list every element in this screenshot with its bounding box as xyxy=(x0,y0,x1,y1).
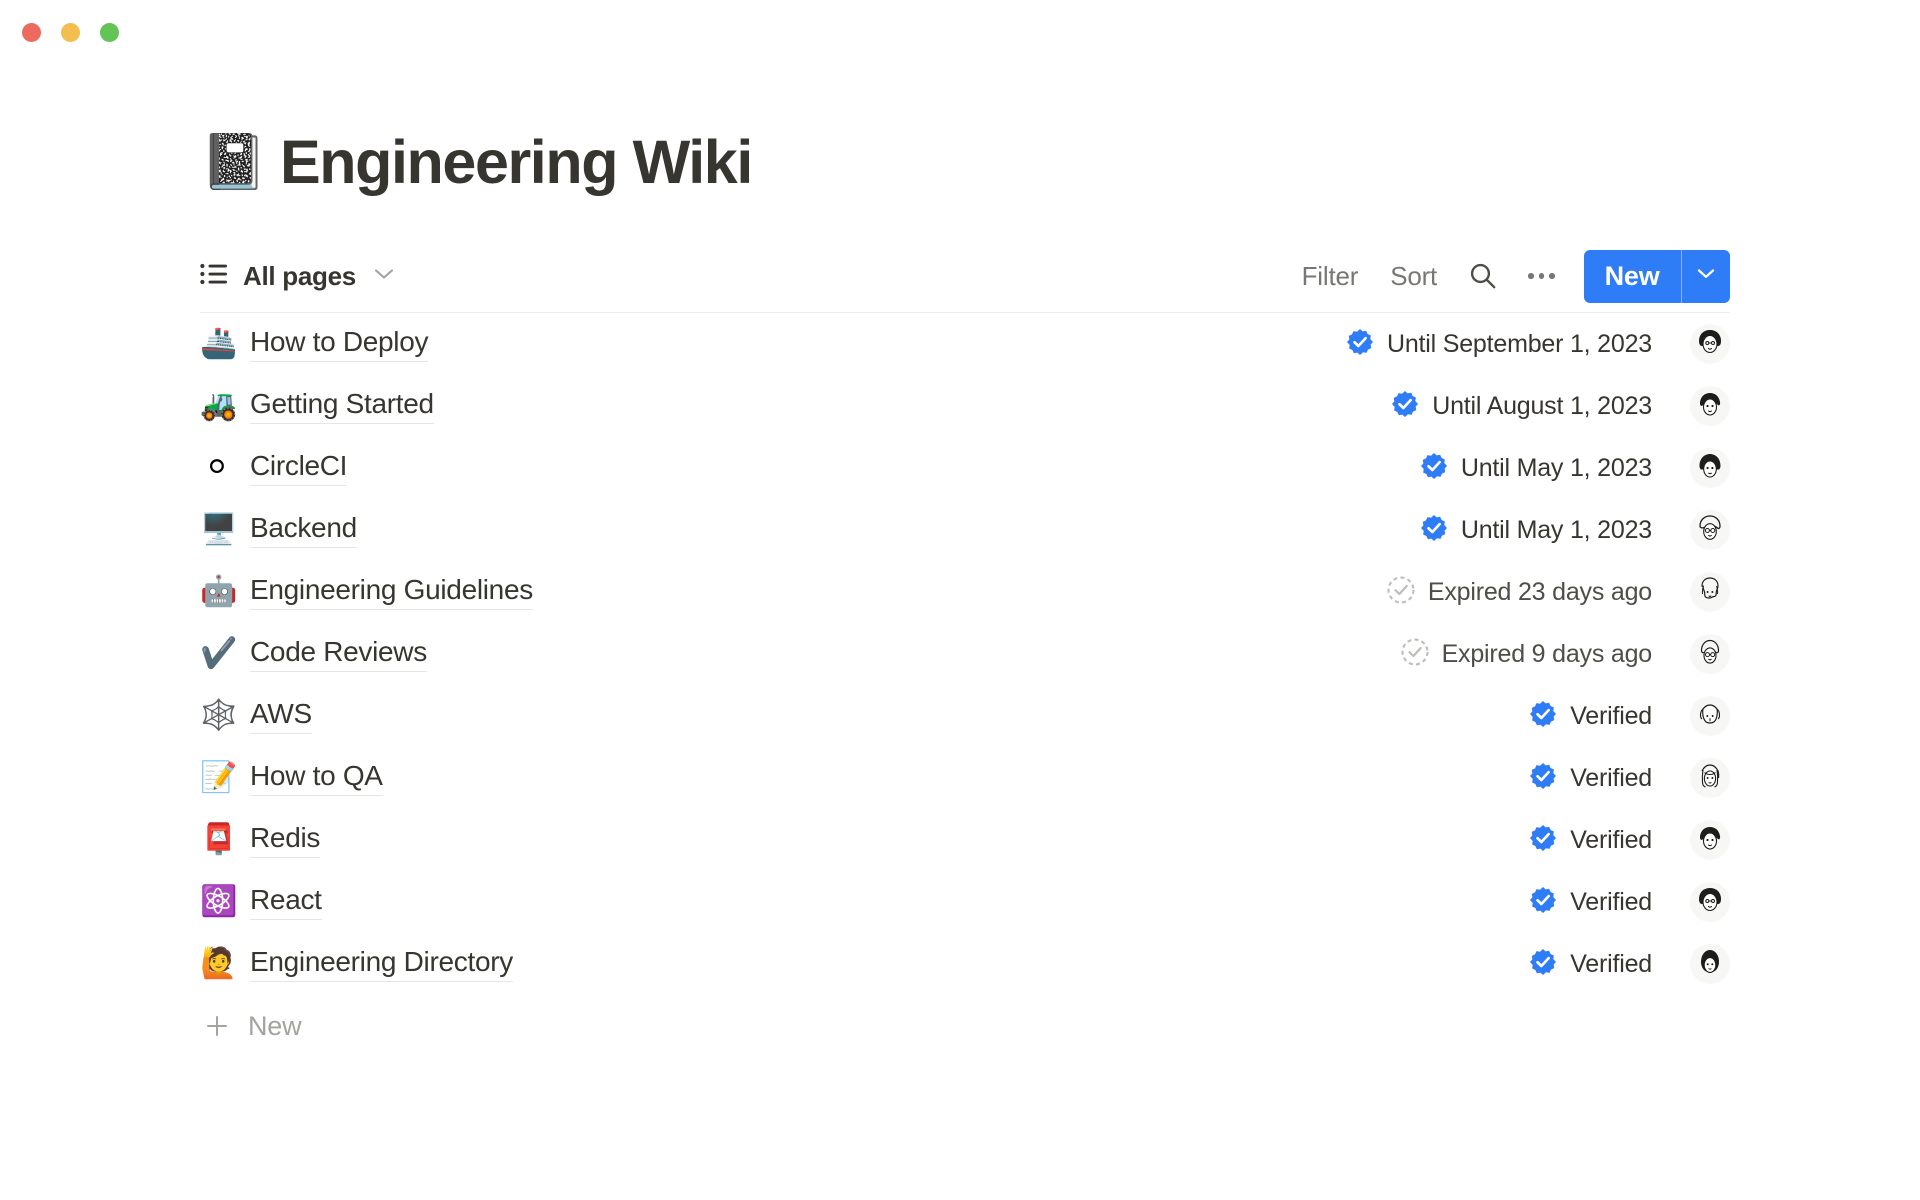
row-right: Until August 1, 2023 xyxy=(1390,386,1730,426)
sort-button[interactable]: Sort xyxy=(1374,261,1453,292)
notebook-emoji: 📓 xyxy=(200,135,258,189)
table-row[interactable]: ⚪ CircleCI Until May 1, 2023 xyxy=(200,437,1730,499)
row-left: ✔️ Code Reviews xyxy=(200,636,1400,672)
page-list: 🚢 How to Deploy Until September 1, 2 xyxy=(200,313,1730,995)
table-row[interactable]: ✔️ Code Reviews Expired 9 days ago xyxy=(200,623,1730,685)
status-badge: Until September 1, 2023 xyxy=(1345,327,1652,362)
ship-emoji: 🚢 xyxy=(200,329,234,359)
chevron-down-icon xyxy=(1696,267,1716,285)
status-text: Until May 1, 2023 xyxy=(1461,516,1652,545)
row-right: Expired 9 days ago xyxy=(1400,634,1730,674)
toolbar-right: Filter Sort xyxy=(1286,250,1730,303)
page-header: 📓 Engineering Wiki xyxy=(200,72,1730,204)
search-icon[interactable] xyxy=(1453,261,1513,291)
status-badge: Verified xyxy=(1528,761,1652,796)
avatar[interactable] xyxy=(1690,510,1730,550)
status-badge: Until May 1, 2023 xyxy=(1419,513,1652,548)
status-badge: Verified xyxy=(1528,699,1652,734)
status-text: Until May 1, 2023 xyxy=(1461,454,1652,483)
row-right: Until May 1, 2023 xyxy=(1419,510,1730,550)
verified-badge-icon xyxy=(1390,389,1420,424)
status-text: Until August 1, 2023 xyxy=(1432,392,1652,421)
status-badge: Verified xyxy=(1528,823,1652,858)
person-raising-hand-emoji: 🙋 xyxy=(200,949,234,979)
table-row[interactable]: 🕸️ AWS Verified xyxy=(200,685,1730,747)
row-right: Verified xyxy=(1528,758,1730,798)
status-text: Verified xyxy=(1570,826,1652,855)
status-badge: Until August 1, 2023 xyxy=(1390,389,1652,424)
status-text: Until September 1, 2023 xyxy=(1387,330,1652,359)
status-text: Expired 23 days ago xyxy=(1428,578,1652,607)
avatar[interactable] xyxy=(1690,572,1730,612)
row-left: 🕸️ AWS xyxy=(200,698,1528,734)
robot-emoji: 🤖 xyxy=(200,577,234,607)
postbox-emoji: 📮 xyxy=(200,825,234,855)
new-button-dropdown[interactable] xyxy=(1682,250,1730,303)
row-right: Verified xyxy=(1528,944,1730,984)
maximize-window-button[interactable] xyxy=(100,23,119,42)
expired-badge-icon xyxy=(1400,637,1430,672)
add-new-row-label: New xyxy=(248,1011,301,1042)
row-right: Verified xyxy=(1528,696,1730,736)
table-row[interactable]: 🤖 Engineering Guidelines Expired 23 xyxy=(200,561,1730,623)
traffic-lights xyxy=(22,23,119,42)
list-icon xyxy=(200,263,228,290)
minimize-window-button[interactable] xyxy=(61,23,80,42)
new-button-group: New xyxy=(1584,250,1730,303)
avatar[interactable] xyxy=(1690,386,1730,426)
status-text: Verified xyxy=(1570,888,1652,917)
verified-badge-icon xyxy=(1528,947,1558,982)
avatar[interactable] xyxy=(1690,324,1730,364)
verified-badge-icon xyxy=(1528,823,1558,858)
row-title[interactable]: Code Reviews xyxy=(250,636,427,672)
row-title[interactable]: How to Deploy xyxy=(250,326,428,362)
avatar[interactable] xyxy=(1690,448,1730,488)
page-title: Engineering Wiki xyxy=(280,130,752,194)
row-right: Expired 23 days ago xyxy=(1386,572,1730,612)
view-tab-all-pages[interactable]: All pages xyxy=(200,261,395,292)
row-title[interactable]: React xyxy=(250,884,322,920)
row-title[interactable]: How to QA xyxy=(250,760,383,796)
row-right: Until May 1, 2023 xyxy=(1419,448,1730,488)
new-button-label: New xyxy=(1605,261,1660,292)
row-left: 🚢 How to Deploy xyxy=(200,326,1345,362)
row-title[interactable]: CircleCI xyxy=(250,450,347,486)
row-left: ⚛️ React xyxy=(200,884,1528,920)
status-badge: Verified xyxy=(1528,947,1652,982)
plus-icon xyxy=(200,1013,234,1039)
verified-badge-icon xyxy=(1528,699,1558,734)
ellipsis-icon[interactable] xyxy=(1513,273,1570,279)
verified-badge-icon xyxy=(1419,513,1449,548)
status-text: Expired 9 days ago xyxy=(1442,640,1652,669)
verified-badge-icon xyxy=(1528,761,1558,796)
expired-badge-icon xyxy=(1386,575,1416,610)
close-window-button[interactable] xyxy=(22,23,41,42)
row-title[interactable]: Redis xyxy=(250,822,320,858)
status-badge: Until May 1, 2023 xyxy=(1419,451,1652,486)
row-left: 🙋 Engineering Directory xyxy=(200,946,1528,982)
avatar[interactable] xyxy=(1690,820,1730,860)
tractor-emoji: 🚜 xyxy=(200,391,234,421)
white-circle-emoji: ⚪ xyxy=(200,453,234,483)
row-title[interactable]: Engineering Directory xyxy=(250,946,513,982)
avatar[interactable] xyxy=(1690,634,1730,674)
page-content: 📓 Engineering Wiki xyxy=(0,72,1920,1057)
avatar[interactable] xyxy=(1690,882,1730,922)
memo-emoji: 📝 xyxy=(200,763,234,793)
row-right: Verified xyxy=(1528,820,1730,860)
desktop-computer-emoji: 🖥️ xyxy=(200,515,234,545)
new-button[interactable]: New xyxy=(1584,250,1681,303)
status-text: Verified xyxy=(1570,764,1652,793)
avatar[interactable] xyxy=(1690,696,1730,736)
row-left: 📝 How to QA xyxy=(200,760,1528,796)
view-tab-label: All pages xyxy=(243,261,356,292)
atom-symbol-emoji: ⚛️ xyxy=(200,887,234,917)
avatar[interactable] xyxy=(1690,758,1730,798)
verified-badge-icon xyxy=(1419,451,1449,486)
row-left: ⚪ CircleCI xyxy=(200,450,1419,486)
spider-web-emoji: 🕸️ xyxy=(200,701,234,731)
row-left: 🤖 Engineering Guidelines xyxy=(200,574,1386,610)
app-window: 📓 Engineering Wiki xyxy=(0,0,1920,1200)
status-text: Verified xyxy=(1570,950,1652,979)
row-right: Verified xyxy=(1528,882,1730,922)
database-toolbar: All pages Filter Sort xyxy=(200,240,1730,313)
status-badge: Verified xyxy=(1528,885,1652,920)
row-left: 🖥️ Backend xyxy=(200,512,1419,548)
table-row[interactable]: ⚛️ React Verified xyxy=(200,871,1730,933)
chevron-down-icon xyxy=(373,267,395,286)
table-row[interactable]: 🚜 Getting Started Until August 1, 20 xyxy=(200,375,1730,437)
row-left: 🚜 Getting Started xyxy=(200,388,1390,424)
table-row[interactable]: 🖥️ Backend Until May 1, 2023 xyxy=(200,499,1730,561)
row-title[interactable]: Engineering Guidelines xyxy=(250,574,533,610)
window-titlebar xyxy=(0,0,1920,72)
toolbar-left: All pages xyxy=(200,261,395,292)
table-row[interactable]: 🚢 How to Deploy Until September 1, 2 xyxy=(200,313,1730,375)
row-title[interactable]: Getting Started xyxy=(250,388,434,424)
row-title[interactable]: Backend xyxy=(250,512,357,548)
table-row[interactable]: 🙋 Engineering Directory Verified xyxy=(200,933,1730,995)
status-text: Verified xyxy=(1570,702,1652,731)
row-title[interactable]: AWS xyxy=(250,698,312,734)
status-badge: Expired 9 days ago xyxy=(1400,637,1652,672)
check-mark-emoji: ✔️ xyxy=(200,639,234,669)
table-row[interactable]: 📮 Redis Verified xyxy=(200,809,1730,871)
status-badge: Expired 23 days ago xyxy=(1386,575,1652,610)
verified-badge-icon xyxy=(1345,327,1375,362)
table-row[interactable]: 📝 How to QA Verified xyxy=(200,747,1730,809)
row-right: Until September 1, 2023 xyxy=(1345,324,1730,364)
avatar[interactable] xyxy=(1690,944,1730,984)
row-left: 📮 Redis xyxy=(200,822,1528,858)
add-new-row-button[interactable]: New xyxy=(200,995,1730,1057)
verified-badge-icon xyxy=(1528,885,1558,920)
filter-button[interactable]: Filter xyxy=(1286,261,1375,292)
